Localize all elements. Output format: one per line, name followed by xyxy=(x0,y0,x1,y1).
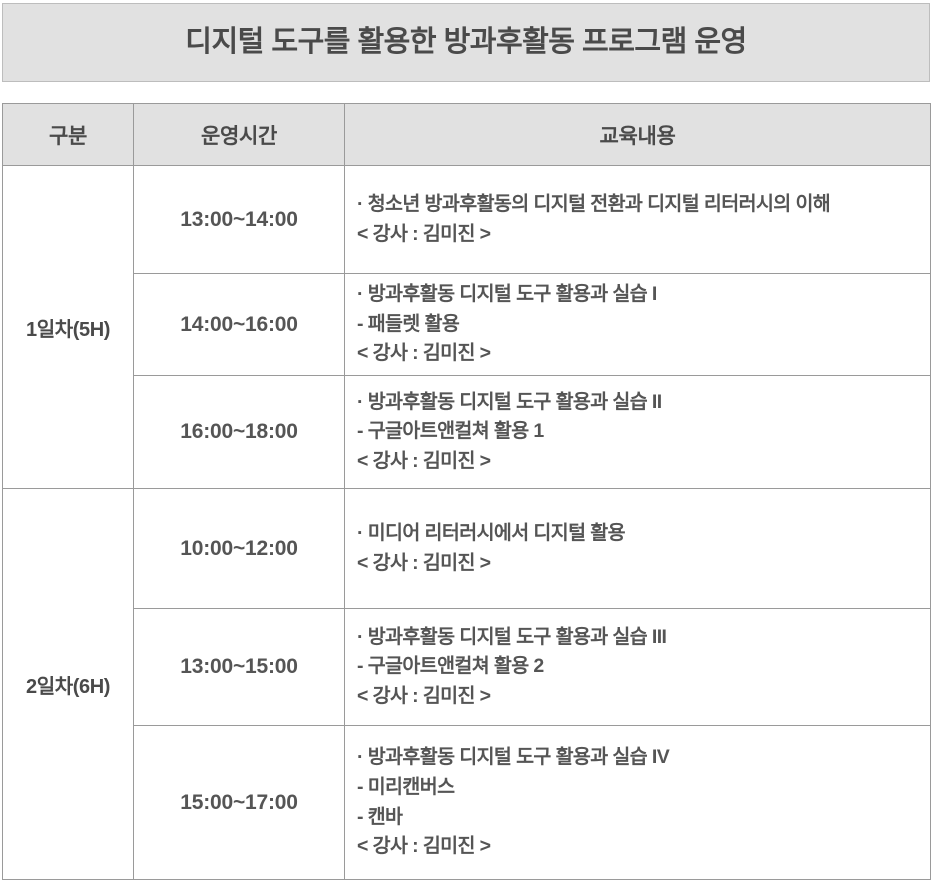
content-line: - 구글아트앤컬쳐 활용 1 xyxy=(357,417,920,447)
content-line: < 강사 : 김미진 > xyxy=(357,832,920,862)
content-cell: · 방과후활동 디지털 도구 활용과 실습 II - 구글아트앤컬쳐 활용 1 … xyxy=(345,376,931,489)
content-line: · 미디어 리터러시에서 디지털 활용 xyxy=(357,519,920,549)
content-line: · 방과후활동 디지털 도구 활용과 실습 IV xyxy=(357,743,920,773)
column-header-content: 교육내용 xyxy=(345,104,931,166)
content-cell: · 방과후활동 디지털 도구 활용과 실습 III - 구글아트앤컬쳐 활용 2… xyxy=(345,609,931,726)
page-title: 디지털 도구를 활용한 방과후활동 프로그램 운영 xyxy=(185,25,746,60)
table-row: 15:00~17:00 · 방과후활동 디지털 도구 활용과 실습 IV - 미… xyxy=(3,726,931,880)
content-line: - 미리캔버스 xyxy=(357,773,920,803)
table-row: 1일차(5H) 13:00~14:00 · 청소년 방과후활동의 디지털 전환과… xyxy=(3,166,931,274)
time-cell: 13:00~14:00 xyxy=(134,166,345,274)
content-line: · 방과후활동 디지털 도구 활용과 실습 III xyxy=(357,623,920,653)
table-row: 2일차(6H) 10:00~12:00 · 미디어 리터러시에서 디지털 활용 … xyxy=(3,489,931,609)
time-cell: 13:00~15:00 xyxy=(134,609,345,726)
content-line: - 캔바 xyxy=(357,803,920,833)
time-cell: 10:00~12:00 xyxy=(134,489,345,609)
content-cell: · 방과후활동 디지털 도구 활용과 실습 IV - 미리캔버스 - 캔바 < … xyxy=(345,726,931,880)
content-line: - 패들렛 활용 xyxy=(357,310,920,340)
day-label-cell-1: 1일차(5H) xyxy=(3,166,134,489)
header-row: 구분 운영시간 교육내용 xyxy=(3,104,931,166)
column-header-time: 운영시간 xyxy=(134,104,345,166)
content-line: · 방과후활동 디지털 도구 활용과 실습 II xyxy=(357,388,920,418)
column-header-division: 구분 xyxy=(3,104,134,166)
content-line: · 방과후활동 디지털 도구 활용과 실습 I xyxy=(357,280,920,310)
time-cell: 15:00~17:00 xyxy=(134,726,345,880)
schedule-table: 구분 운영시간 교육내용 1일차(5H) 13:00~14:00 · 청소년 방… xyxy=(2,103,931,880)
content-line: < 강사 : 김미진 > xyxy=(357,549,920,579)
page-title-banner: 디지털 도구를 활용한 방과후활동 프로그램 운영 xyxy=(2,3,930,82)
table-row: 14:00~16:00 · 방과후활동 디지털 도구 활용과 실습 I - 패들… xyxy=(3,274,931,376)
content-line: < 강사 : 김미진 > xyxy=(357,447,920,477)
content-line: · 청소년 방과후활동의 디지털 전환과 디지털 리터러시의 이해 xyxy=(357,190,920,220)
table-body: 1일차(5H) 13:00~14:00 · 청소년 방과후활동의 디지털 전환과… xyxy=(3,166,931,880)
content-cell: · 청소년 방과후활동의 디지털 전환과 디지털 리터러시의 이해 < 강사 :… xyxy=(345,166,931,274)
program-schedule-page: 디지털 도구를 활용한 방과후활동 프로그램 운영 구분 운영시간 교육내용 1… xyxy=(0,0,934,884)
content-line: - 구글아트앤컬쳐 활용 2 xyxy=(357,652,920,682)
table-header: 구분 운영시간 교육내용 xyxy=(3,104,931,166)
content-line: < 강사 : 김미진 > xyxy=(357,682,920,712)
time-cell: 14:00~16:00 xyxy=(134,274,345,376)
day-label-cell-2: 2일차(6H) xyxy=(3,489,134,880)
content-cell: · 미디어 리터러시에서 디지털 활용 < 강사 : 김미진 > xyxy=(345,489,931,609)
content-line: < 강사 : 김미진 > xyxy=(357,220,920,250)
content-cell: · 방과후활동 디지털 도구 활용과 실습 I - 패들렛 활용 < 강사 : … xyxy=(345,274,931,376)
time-cell: 16:00~18:00 xyxy=(134,376,345,489)
table-row: 16:00~18:00 · 방과후활동 디지털 도구 활용과 실습 II - 구… xyxy=(3,376,931,489)
table-row: 13:00~15:00 · 방과후활동 디지털 도구 활용과 실습 III - … xyxy=(3,609,931,726)
content-line: < 강사 : 김미진 > xyxy=(357,339,920,369)
